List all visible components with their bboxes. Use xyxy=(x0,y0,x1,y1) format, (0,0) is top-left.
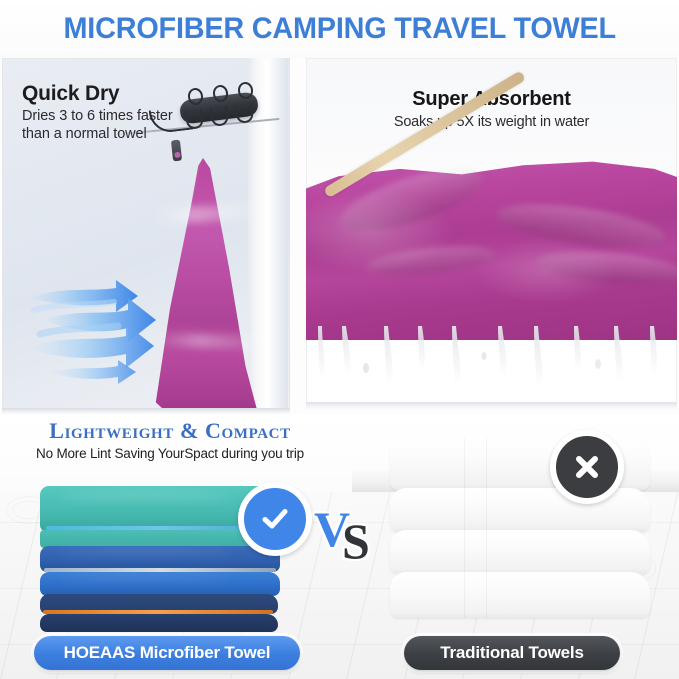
towel-seam-decor xyxy=(464,488,465,532)
towel-seam-decor xyxy=(464,530,465,574)
comparison-text-block: Lightweight & Compact No More Lint Savin… xyxy=(0,418,340,461)
towel-shine-decor xyxy=(59,492,232,504)
versus-label: V S xyxy=(314,504,386,566)
quick-dry-heading: Quick Dry xyxy=(22,82,272,105)
water-drips-image xyxy=(306,326,677,396)
towel-seam-decor xyxy=(486,438,487,490)
comparison-heading: Lightweight & Compact xyxy=(0,418,340,444)
towel-layer-bright-blue xyxy=(40,572,280,596)
super-absorbent-subtext: Soaks up 5X its weight in water xyxy=(306,114,677,130)
product-infographic: MICROFIBER CAMPING TRAVEL TOWEL xyxy=(0,0,679,679)
wet-towel-image xyxy=(306,158,677,340)
towel-seam-decor xyxy=(486,488,487,532)
airflow-arrows-icon xyxy=(20,276,200,401)
microfiber-towel-label-text: HOEAAS Microfiber Towel xyxy=(64,643,271,663)
close-badge-icon xyxy=(550,430,624,504)
towel-seam-decor xyxy=(464,438,465,490)
towel-seam-decor xyxy=(486,530,487,574)
quick-dry-subtext-line1: Dries 3 to 6 times faster xyxy=(22,108,272,126)
towel-layer-navy-bottom xyxy=(40,614,278,632)
microfiber-towel-stack xyxy=(40,486,288,624)
traditional-towel-label: Traditional Towels xyxy=(404,636,620,670)
white-towel-layer-4 xyxy=(390,572,650,618)
quick-dry-subtext-line2: than a normal towel xyxy=(22,126,272,144)
quick-dry-panel: Quick Dry Dries 3 to 6 times faster than… xyxy=(2,58,290,413)
check-badge-icon xyxy=(238,482,312,556)
microfiber-towel-label: HOEAAS Microfiber Towel xyxy=(34,636,300,670)
comparison-subtext: No More Lint Saving YourSpact during you… xyxy=(0,446,340,461)
quick-dry-text-block: Quick Dry Dries 3 to 6 times faster than… xyxy=(22,82,272,143)
towel-highlight-decor xyxy=(154,203,255,224)
white-towel-layer-3 xyxy=(390,530,650,574)
panel-shadow-decor xyxy=(306,402,677,410)
towel-shine-decor xyxy=(59,575,232,581)
towel-seam-decor xyxy=(486,572,487,618)
towel-shine-decor xyxy=(59,549,232,556)
versus-s: S xyxy=(342,516,366,566)
traditional-towel-label-text: Traditional Towels xyxy=(440,643,583,663)
page-title: MICROFIBER CAMPING TRAVEL TOWEL xyxy=(63,12,615,46)
header-banner: MICROFIBER CAMPING TRAVEL TOWEL xyxy=(0,0,679,58)
comparison-section: Lightweight & Compact No More Lint Savin… xyxy=(0,414,679,679)
towel-seam-decor xyxy=(464,572,465,618)
super-absorbent-panel: Super Absorbent Soaks up 5X its weight i… xyxy=(306,58,677,406)
